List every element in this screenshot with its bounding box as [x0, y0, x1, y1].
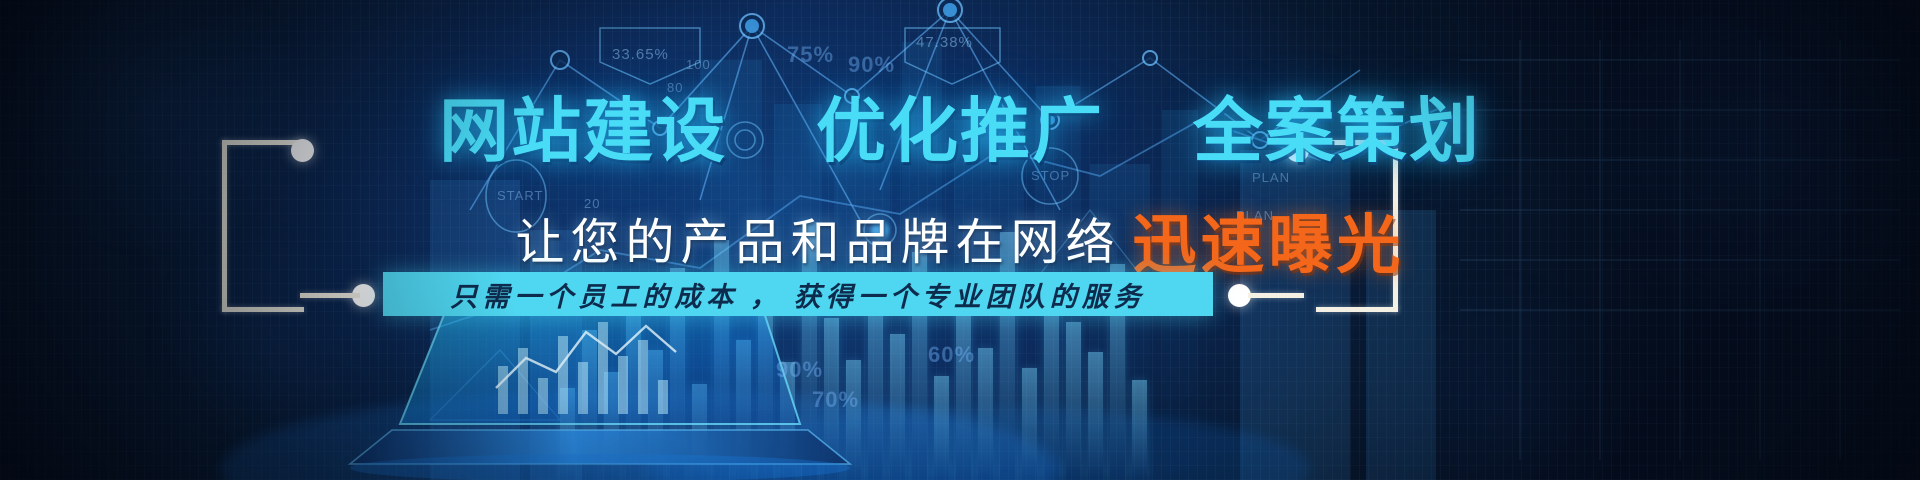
headline-part-1: 网站建设: [439, 92, 727, 170]
tagline-text: 只需一个员工的成本 ， 获得一个专业团队的服务: [450, 275, 1146, 314]
subheadline: 让您的产品和品牌在网络迅速曝光: [0, 205, 1920, 269]
promo-banner: 33.65% 47.38% 100 80 75% 90% 90% 60% 70%…: [0, 0, 1920, 480]
headline-part-2: 优化推广: [816, 92, 1104, 170]
subheadline-plain: 让您的产品和品牌在网络: [515, 216, 1120, 270]
headline-part-3: 全案策划: [1193, 92, 1481, 170]
subheadline-accent: 迅速曝光: [1133, 209, 1405, 281]
tagline-ribbon: 只需一个员工的成本 ， 获得一个专业团队的服务: [383, 272, 1213, 316]
headline: 网站建设 优化推广 全案策划: [0, 96, 1920, 166]
banner-content: 网站建设 优化推广 全案策划 让您的产品和品牌在网络迅速曝光 只需一个员工的成本…: [0, 0, 1920, 480]
